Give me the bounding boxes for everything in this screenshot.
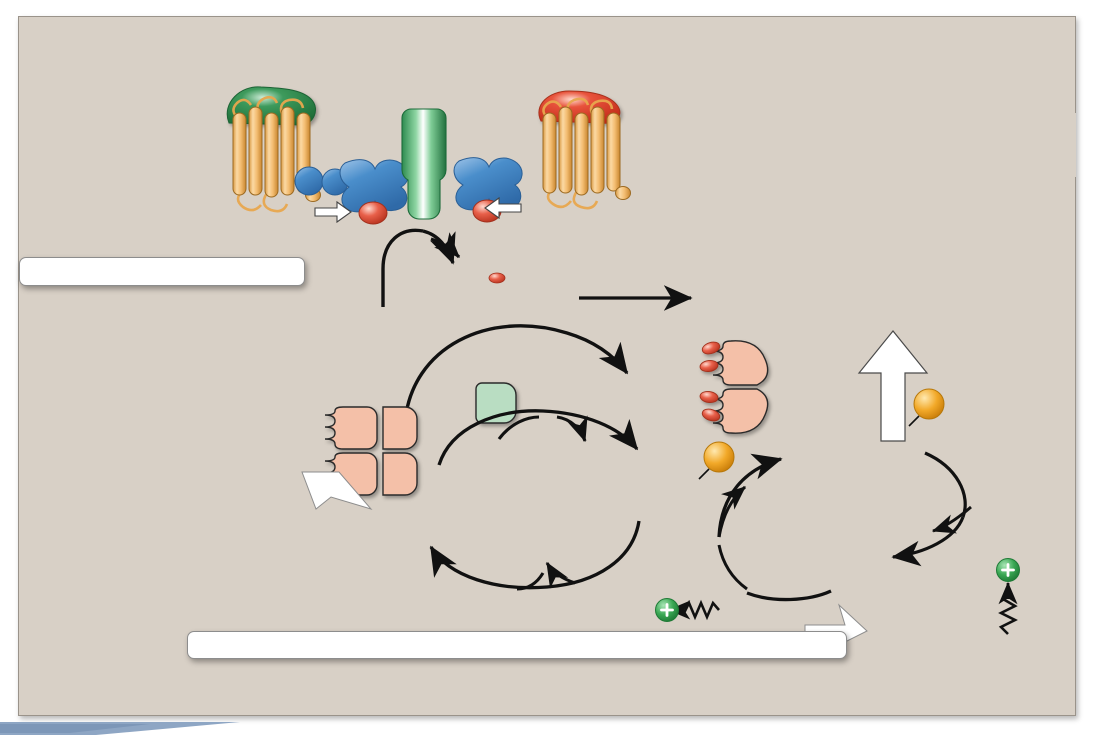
atp-to-phosphorylase (747, 591, 831, 600)
phosphate-badge-kinase-a (704, 442, 734, 472)
insulin-inhibition-squiggle-left (669, 603, 719, 617)
pi-release-curve (547, 563, 575, 583)
pka-holoenzyme-inactive (325, 407, 417, 495)
phosphorylase-b-to-a-arrow (719, 459, 781, 537)
adp-branch (719, 487, 745, 537)
phosphate-badge-phosphorylase-a (914, 389, 944, 419)
bound-camp-molecules (699, 340, 721, 423)
plus-badge-right (997, 559, 1020, 582)
camp-label (440, 269, 453, 287)
camp-activates-pka-arrow (405, 326, 627, 423)
camp-paren-close (440, 269, 453, 286)
activation-arrow-left (315, 202, 351, 222)
plus-badge-left (656, 599, 679, 622)
pi-release-right (933, 507, 971, 531)
pka-regulatory-dimer (699, 340, 767, 433)
figure-panel (18, 16, 1076, 716)
ppi-arrow (431, 239, 459, 257)
callout-calcium (19, 257, 305, 286)
activation-arrow-right (485, 198, 521, 218)
phosphorylase-a-to-b-arrow (925, 453, 965, 517)
glycogen-degraded-arrow (859, 331, 927, 441)
callout-amp (187, 631, 847, 659)
calcium-callout-tail (302, 472, 371, 509)
atp-to-camp-arrow (383, 230, 423, 307)
decorative-wedge (0, 722, 260, 738)
water-input-curve (517, 573, 543, 589)
kinase-a-to-b-arrow (431, 521, 639, 588)
atp-branch (719, 545, 747, 589)
insulin-activation-squiggle-right (1001, 583, 1015, 634)
plasma-membrane (20, 113, 1076, 177)
camp-red-dot (489, 273, 505, 283)
atp-input-curve (499, 417, 539, 439)
pka-catalytic-subunit (476, 383, 516, 423)
adp-output-curve (557, 417, 585, 441)
kinase-b-to-a-arrow (439, 411, 637, 465)
